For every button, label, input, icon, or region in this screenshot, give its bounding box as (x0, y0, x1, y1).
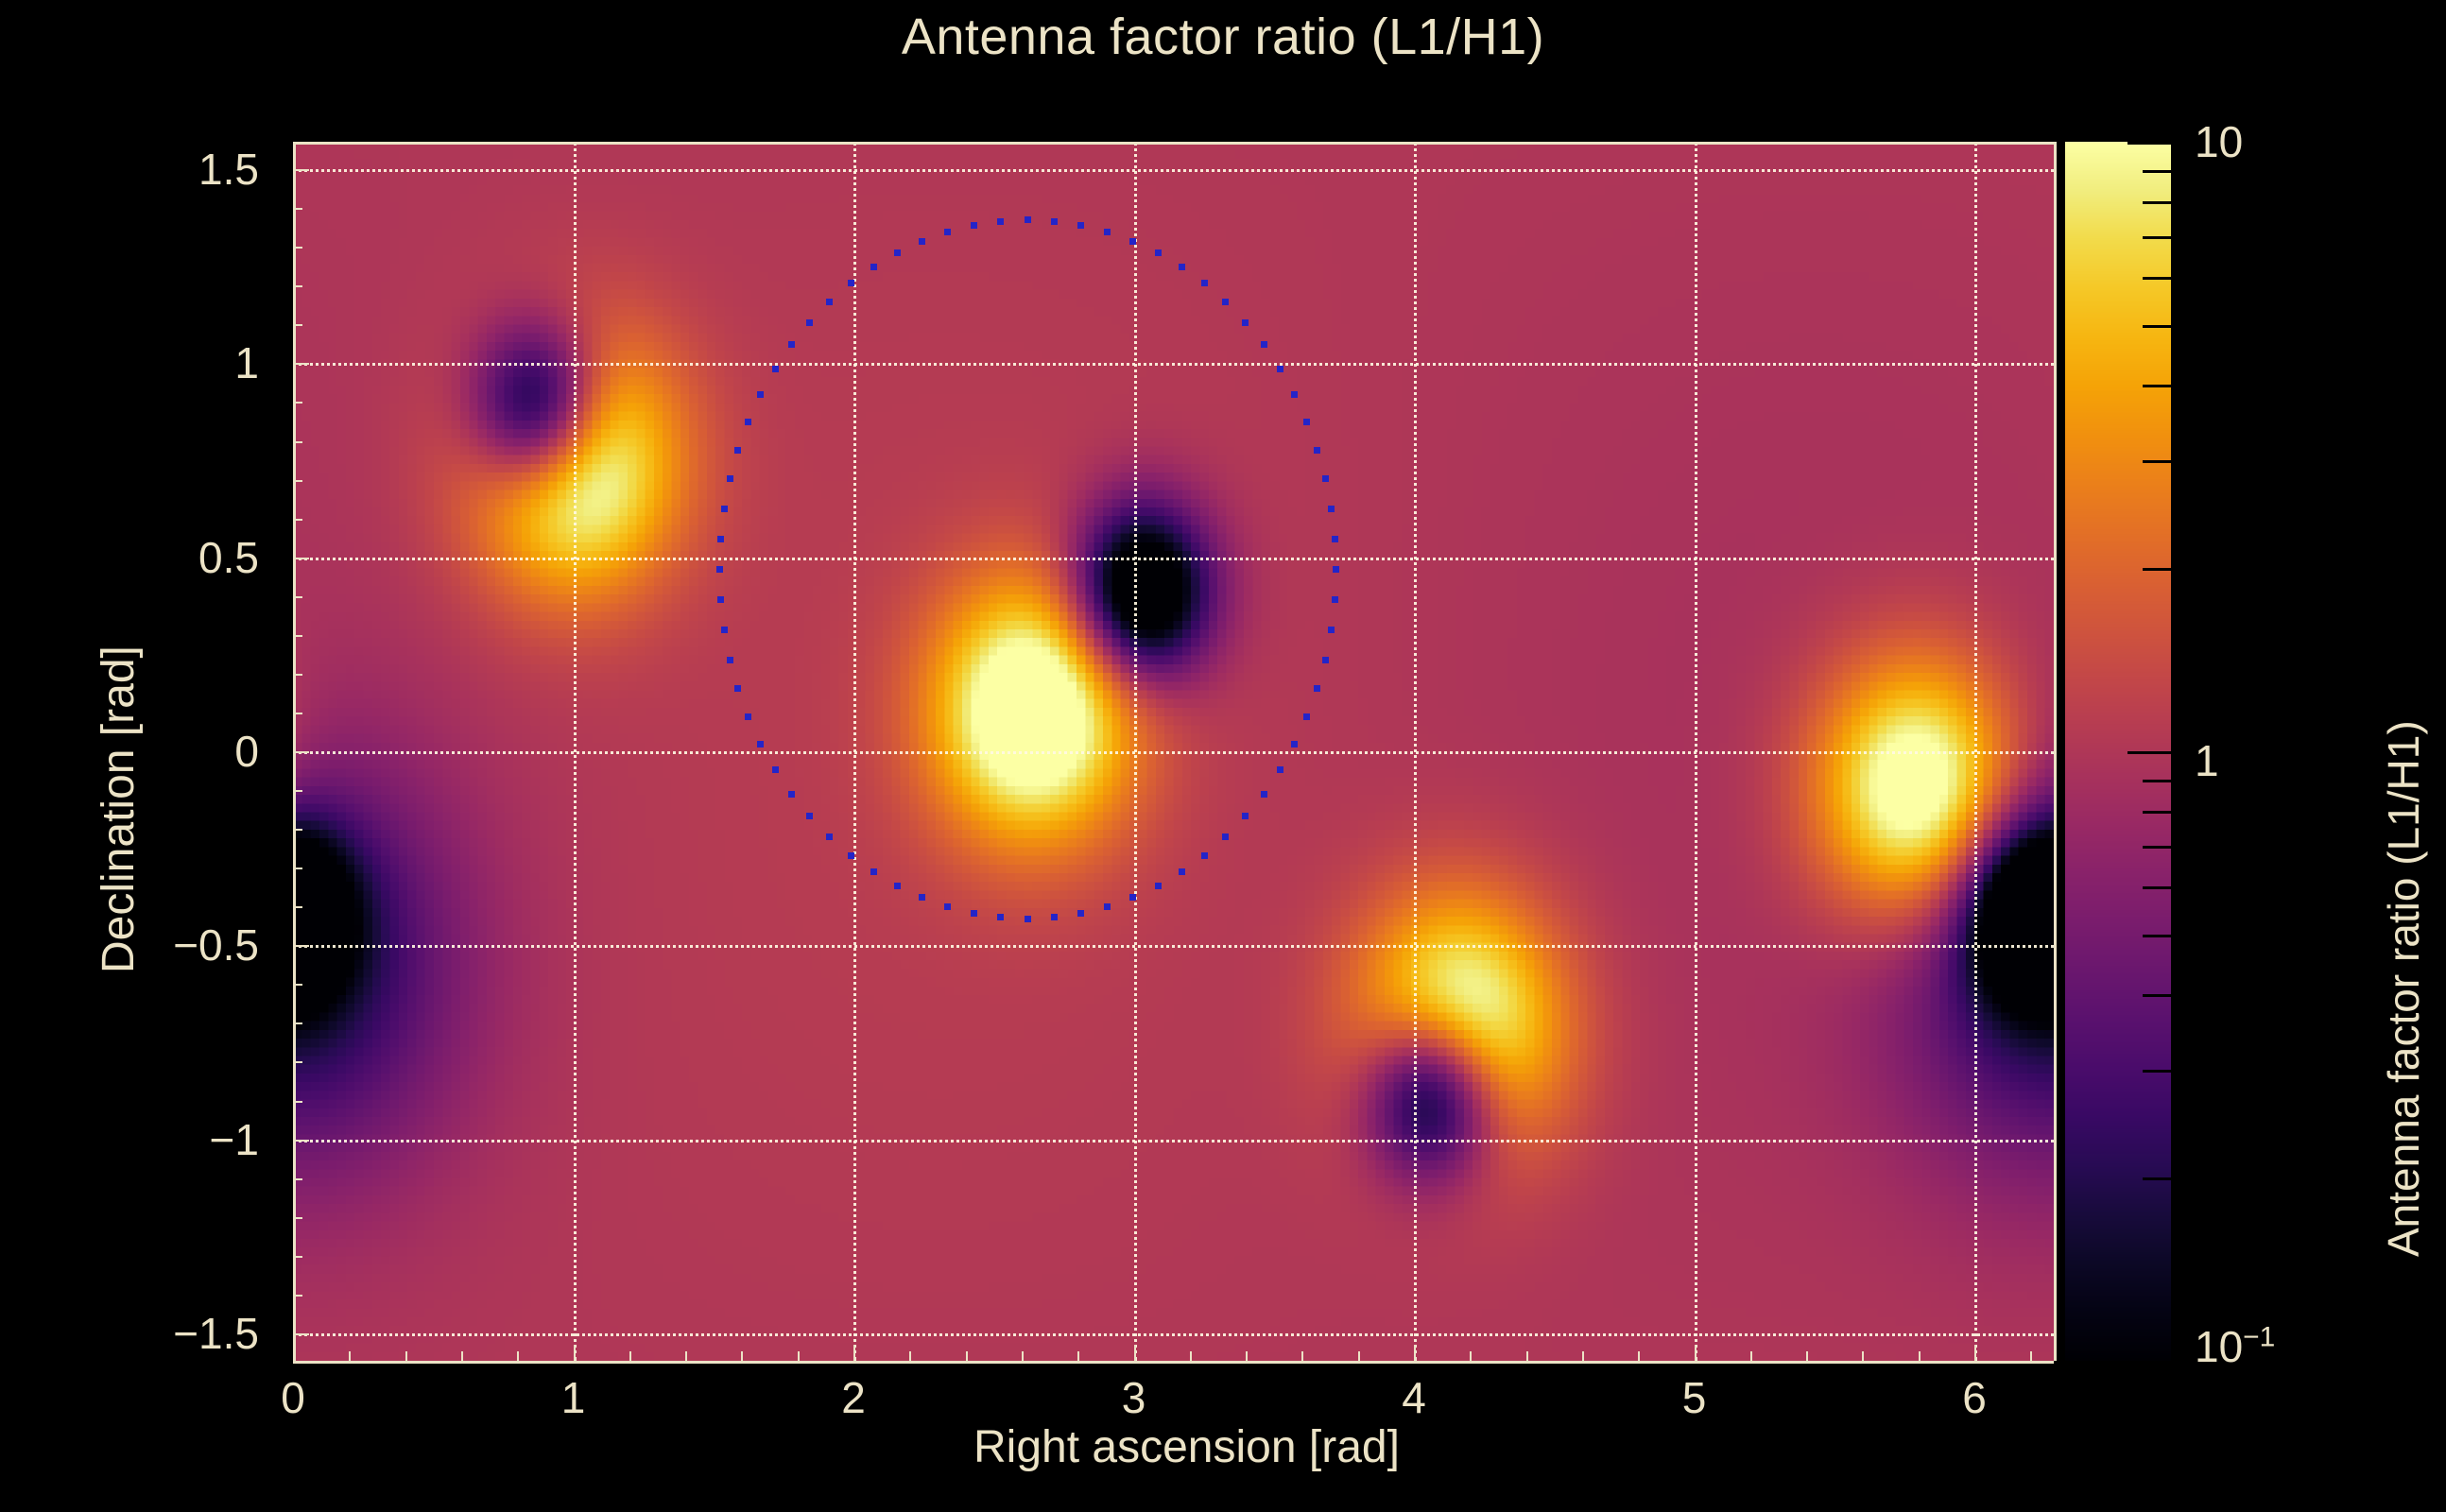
y-axis-tick-label: −1 (210, 1114, 259, 1165)
colorbar-label-top: 10 (2195, 116, 2243, 167)
x-axis-minor-tick (966, 1351, 968, 1361)
x-axis-minor-tick (2030, 1351, 2032, 1361)
x-axis-minor-tick (685, 1351, 687, 1361)
x-axis-major-tick (574, 1345, 576, 1361)
y-axis-minor-tick (293, 441, 302, 443)
y-axis-major-tick (293, 751, 309, 753)
x-axis-major-tick (1695, 1345, 1697, 1361)
x-axis-minor-tick (461, 1351, 463, 1361)
x-axis-minor-tick (1470, 1351, 1472, 1361)
colorbar-label-bottom-base: 10 (2195, 1322, 2243, 1371)
x-axis-major-tick (853, 1345, 855, 1361)
y-axis-minor-tick (293, 1178, 302, 1180)
y-axis-tick-label: −1.5 (173, 1308, 259, 1359)
x-axis-title: Right ascension [rad] (973, 1421, 1400, 1473)
heatmap-image (293, 142, 2054, 1361)
x-axis-major-tick (1134, 1345, 1136, 1361)
colorbar-minor-tick (2143, 1070, 2171, 1073)
y-axis-minor-tick (293, 402, 302, 404)
y-axis-minor-tick (293, 829, 302, 831)
y-axis-tick-label: 1.5 (198, 144, 259, 195)
y-axis-minor-tick (293, 906, 302, 908)
x-axis-minor-tick (1022, 1351, 1024, 1361)
y-axis-tick-label: 0 (234, 726, 259, 777)
x-axis-tick-label: 0 (281, 1372, 305, 1423)
colorbar-minor-tick (2143, 935, 2171, 937)
x-axis-minor-tick (1190, 1351, 1192, 1361)
y-axis-minor-tick (293, 1295, 302, 1297)
colorbar-minor-tick (2143, 277, 2171, 280)
x-axis-minor-tick (1526, 1351, 1528, 1361)
y-axis-minor-tick (293, 1022, 302, 1024)
x-axis-minor-tick (1806, 1351, 1808, 1361)
colorbar-minor-tick (2143, 385, 2171, 387)
y-axis-tick-label: 0.5 (198, 532, 259, 583)
x-axis-minor-tick (798, 1351, 800, 1361)
y-axis-minor-tick (293, 247, 302, 249)
plot-top-border (293, 142, 2054, 145)
x-axis-minor-tick (1750, 1351, 1752, 1361)
x-axis-minor-tick (1582, 1351, 1584, 1361)
colorbar-major-tick (2127, 142, 2171, 145)
y-axis-minor-tick (293, 596, 302, 598)
x-axis-minor-tick (1638, 1351, 1640, 1361)
y-axis-major-tick (293, 558, 309, 559)
y-axis-minor-tick (293, 519, 302, 521)
x-axis-minor-tick (349, 1351, 351, 1361)
colorbar-minor-tick (2143, 325, 2171, 328)
colorbar-minor-tick (2143, 780, 2171, 782)
x-axis-minor-tick (629, 1351, 631, 1361)
colorbar-minor-tick (2143, 846, 2171, 849)
x-axis-tick-label: 4 (1402, 1372, 1426, 1423)
y-axis-minor-tick (293, 1101, 302, 1103)
y-axis-major-tick (293, 1140, 309, 1142)
y-axis-minor-tick (293, 868, 302, 869)
y-axis-minor-tick (293, 1061, 302, 1063)
y-axis-title: Declination [rad] (93, 645, 145, 973)
colorbar-minor-tick (2143, 1177, 2171, 1180)
y-axis-major-tick (293, 945, 309, 947)
y-axis-minor-tick (293, 713, 302, 714)
y-axis-tick-label: 1 (234, 337, 259, 388)
x-axis-minor-tick (405, 1351, 407, 1361)
colorbar-label-bottom-exponent: −1 (2243, 1322, 2275, 1353)
x-axis-tick-label: 3 (1122, 1372, 1146, 1423)
y-axis-minor-tick (293, 480, 302, 482)
colorbar-minor-tick (2143, 886, 2171, 889)
y-axis-minor-tick (293, 324, 302, 326)
x-axis-minor-tick (741, 1351, 743, 1361)
colorbar-label-mid: 1 (2195, 735, 2219, 786)
x-axis-tick-label: 6 (1962, 1372, 1987, 1423)
x-axis-minor-tick (1301, 1351, 1303, 1361)
y-axis-minor-tick (293, 674, 302, 676)
colorbar-title: Antenna factor ratio (L1/H1) (2378, 720, 2429, 1257)
heatmap-canvas-wrapper (293, 142, 2054, 1361)
x-axis-tick-label: 1 (561, 1372, 586, 1423)
colorbar-minor-tick (2143, 811, 2171, 814)
x-axis-minor-tick (1862, 1351, 1864, 1361)
x-axis-major-tick (1974, 1345, 1976, 1361)
y-axis-major-tick (293, 1333, 309, 1335)
plot-right-border (2054, 142, 2057, 1361)
colorbar-minor-tick (2143, 201, 2171, 204)
x-axis-line (293, 1361, 2054, 1364)
x-axis-minor-tick (1919, 1351, 1921, 1361)
colorbar-minor-tick (2143, 170, 2171, 173)
x-axis-minor-tick (517, 1351, 519, 1361)
colorbar-minor-tick (2143, 236, 2171, 239)
x-axis-minor-tick (1358, 1351, 1360, 1361)
y-axis-minor-tick (293, 635, 302, 637)
y-axis-minor-tick (293, 285, 302, 287)
y-axis-major-tick (293, 363, 309, 365)
colorbar-minor-tick (2143, 994, 2171, 997)
y-axis-tick-label: −0.5 (173, 919, 259, 971)
x-axis-minor-tick (909, 1351, 911, 1361)
colorbar-minor-tick (2143, 568, 2171, 571)
colorbar-label-bottom: 10−1 (2195, 1321, 2275, 1372)
x-axis-major-tick (293, 1345, 295, 1361)
heatmap-plot-area (293, 142, 2054, 1361)
x-axis-tick-label: 5 (1682, 1372, 1707, 1423)
colorbar-minor-tick (2143, 460, 2171, 463)
y-axis-minor-tick (293, 1217, 302, 1219)
colorbar-major-tick (2127, 751, 2171, 754)
y-axis-minor-tick (293, 208, 302, 210)
y-axis-major-tick (293, 169, 309, 171)
x-axis-tick-label: 2 (841, 1372, 866, 1423)
y-axis-minor-tick (293, 1256, 302, 1258)
y-axis-minor-tick (293, 984, 302, 986)
y-axis-minor-tick (293, 790, 302, 792)
x-axis-minor-tick (1246, 1351, 1248, 1361)
x-axis-major-tick (1414, 1345, 1416, 1361)
x-axis-minor-tick (1077, 1351, 1079, 1361)
page-title: Antenna factor ratio (L1/H1) (0, 8, 2446, 66)
